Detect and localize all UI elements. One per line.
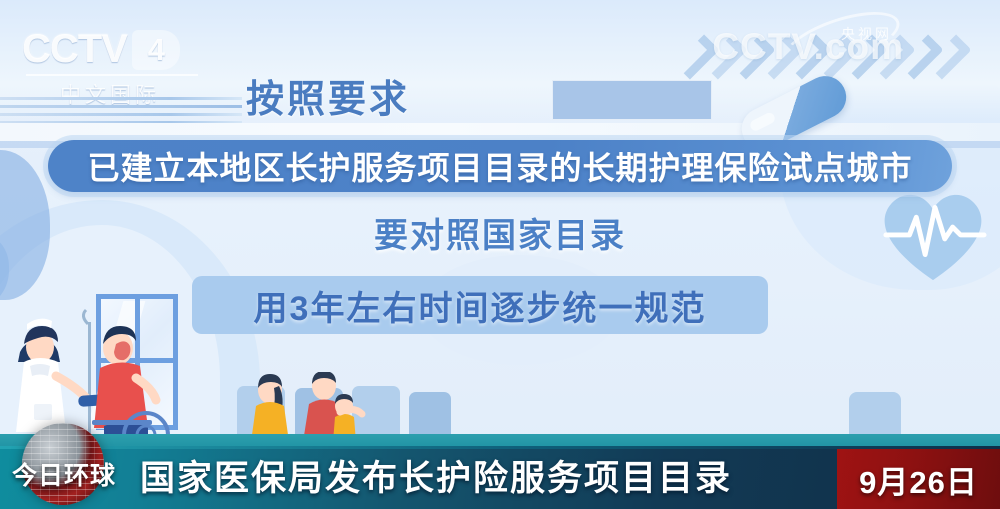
headline-line2-text: 要对照国家目录 — [0, 208, 1000, 257]
headline-line3-text: 用3年左右时间逐步统一规范 — [254, 281, 707, 330]
headline-banner-tertiary: 用3年左右时间逐步统一规范 — [192, 276, 768, 334]
news-ticker-bar: 今日环球 国家医保局发布长护险服务项目目录 9月26日 — [0, 449, 1000, 509]
cctv4-logo: CCTV 4 中文国际 — [22, 27, 198, 105]
date-text: 9月26日 — [859, 457, 978, 502]
date-badge: 9月26日 — [837, 449, 1000, 509]
watermark-chinese: 央视网 — [841, 24, 892, 44]
ticker-headline: 国家医保局发布长护险服务项目目录 — [140, 450, 732, 501]
headline-banner-primary: 已建立本地区长护服务项目目录的长期护理保险试点城市 — [48, 140, 952, 192]
family-illustration — [236, 372, 416, 442]
logo-divider — [26, 74, 198, 76]
header-accent-box — [552, 80, 712, 120]
kicker-text: 按照要求 — [246, 68, 410, 123]
logo-text: CCTV — [22, 27, 127, 72]
headline-line1-text: 已建立本地区长护服务项目目录的长期护理保险试点城市 — [87, 143, 912, 189]
program-name: 今日环球 — [12, 456, 116, 492]
header-band — [0, 123, 1000, 141]
chair — [849, 392, 901, 440]
logo-channel-number: 4 — [132, 30, 180, 70]
broadcast-screen: CCTV.com 央视网 CCTV 4 中文国际 按照要求 已建立本地区长护服务… — [0, 0, 1000, 509]
